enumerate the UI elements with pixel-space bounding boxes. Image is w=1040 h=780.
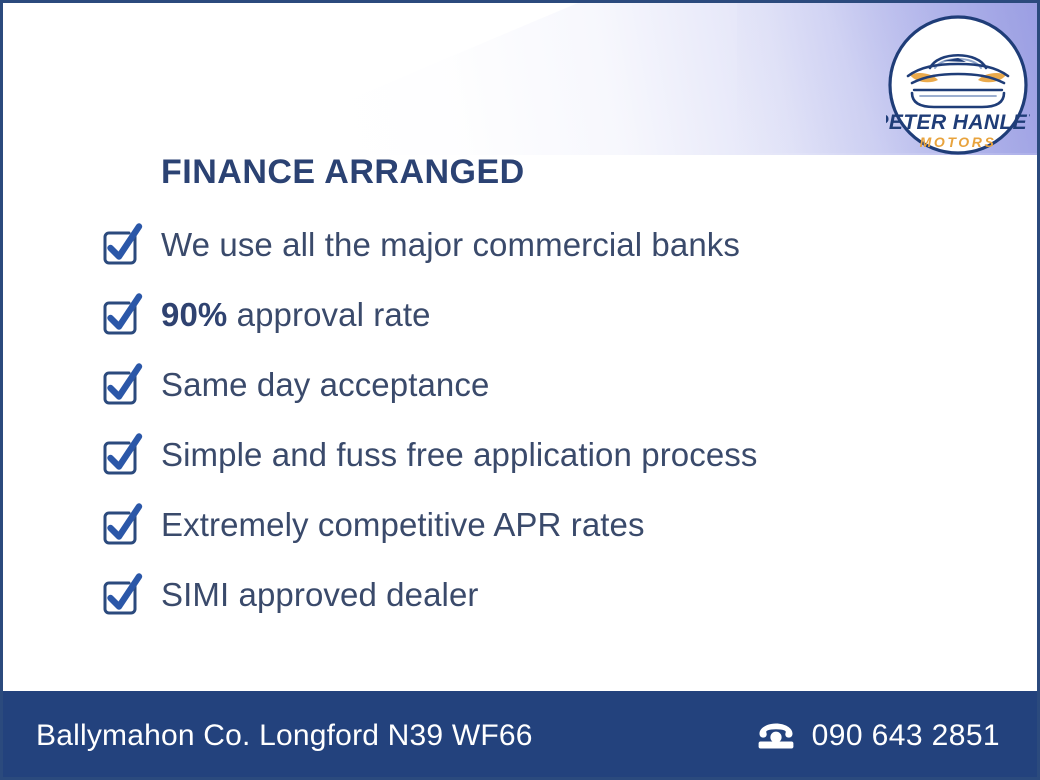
list-item: We use all the major commercial banks [95,209,975,279]
list-item-label-rest: approval rate [227,296,430,333]
list-item-label: We use all the major commercial banks [161,228,740,261]
page-title: FINANCE ARRANGED [161,153,525,192]
telephone-icon [756,721,796,751]
checkbox-checked-icon [95,498,147,550]
footer-bar: Ballymahon Co. Longford N39 WF66 090 643… [0,691,1040,780]
list-item-label: Extremely competitive APR rates [161,508,645,541]
checkbox-checked-icon [95,428,147,480]
list-item-label: 90% approval rate [161,298,431,331]
list-item-label: Simple and fuss free application process [161,438,758,471]
dealer-address: Ballymahon Co. Longford N39 WF66 [36,719,533,753]
dealer-phone[interactable]: 090 643 2851 [756,719,1000,753]
advert-canvas: PETER HANLEY MOTORS FINANCE ARRANGED We … [0,0,1040,780]
feature-checklist: We use all the major commercial banks 90… [95,209,975,629]
logo-name-line1: PETER HANLEY [886,111,1030,134]
logo-name-line2: MOTORS [920,134,997,150]
list-item-emphasis: 90% [161,296,227,333]
checkbox-checked-icon [95,288,147,340]
checkbox-checked-icon [95,218,147,270]
list-item-label: Same day acceptance [161,368,489,401]
list-item: Extremely competitive APR rates [95,489,975,559]
dealer-logo: PETER HANLEY MOTORS [886,13,1030,157]
checkbox-checked-icon [95,568,147,620]
list-item: SIMI approved dealer [95,559,975,629]
list-item: Same day acceptance [95,349,975,419]
list-item-label: SIMI approved dealer [161,578,479,611]
dealer-phone-number: 090 643 2851 [812,719,1000,753]
list-item: Simple and fuss free application process [95,419,975,489]
list-item: 90% approval rate [95,279,975,349]
checkbox-checked-icon [95,358,147,410]
